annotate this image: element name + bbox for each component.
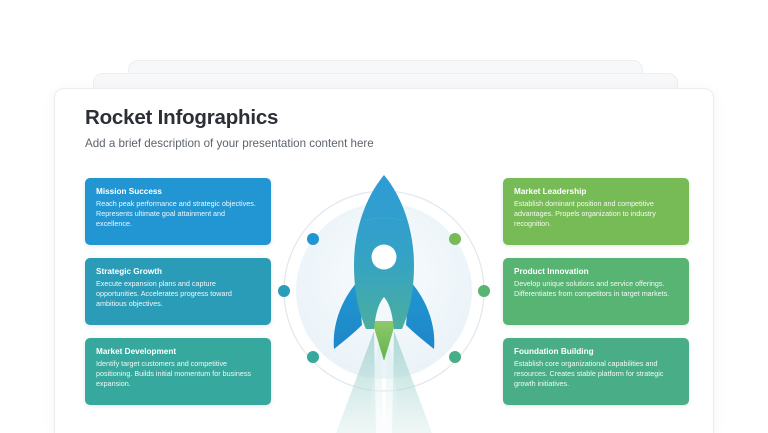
info-card-description: Establish core organizational capabiliti…	[514, 359, 678, 390]
dot-bottom-left	[307, 351, 319, 363]
info-card-description: Establish dominant position and competit…	[514, 199, 678, 230]
page-title: Rocket Infographics	[85, 106, 374, 130]
presentation-slide[interactable]: Rocket Infographics Add a brief descript…	[54, 88, 714, 433]
info-card-title: Product Innovation	[514, 267, 678, 276]
info-card-mission-success[interactable]: Mission Success Reach peak performance a…	[85, 178, 271, 245]
info-card-title: Foundation Building	[514, 347, 678, 356]
info-card-title: Market Leadership	[514, 187, 678, 196]
info-card-strategic-growth[interactable]: Strategic Growth Execute expansion plans…	[85, 258, 271, 325]
info-card-product-innovation[interactable]: Product Innovation Develop unique soluti…	[503, 258, 689, 325]
info-card-title: Mission Success	[96, 187, 260, 196]
slide-header: Rocket Infographics Add a brief descript…	[85, 106, 374, 150]
info-card-title: Strategic Growth	[96, 267, 260, 276]
info-card-description: Identify target customers and competitiv…	[96, 359, 260, 390]
page-subtitle: Add a brief description of your presenta…	[85, 137, 374, 150]
info-card-foundation-building[interactable]: Foundation Building Establish core organ…	[503, 338, 689, 405]
info-card-market-leadership[interactable]: Market Leadership Establish dominant pos…	[503, 178, 689, 245]
rocket-diagram	[276, 161, 492, 433]
info-card-description: Reach peak performance and strategic obj…	[96, 199, 260, 230]
dot-mid-right	[478, 285, 490, 297]
dot-bottom-right	[449, 351, 461, 363]
dot-mid-left	[278, 285, 290, 297]
info-card-description: Execute expansion plans and capture oppo…	[96, 279, 260, 310]
info-card-title: Market Development	[96, 347, 260, 356]
info-card-market-development[interactable]: Market Development Identify target custo…	[85, 338, 271, 405]
dot-top-right	[449, 233, 461, 245]
dot-top-left	[307, 233, 319, 245]
info-card-description: Develop unique solutions and service off…	[514, 279, 678, 299]
rocket-porthole	[372, 245, 397, 270]
